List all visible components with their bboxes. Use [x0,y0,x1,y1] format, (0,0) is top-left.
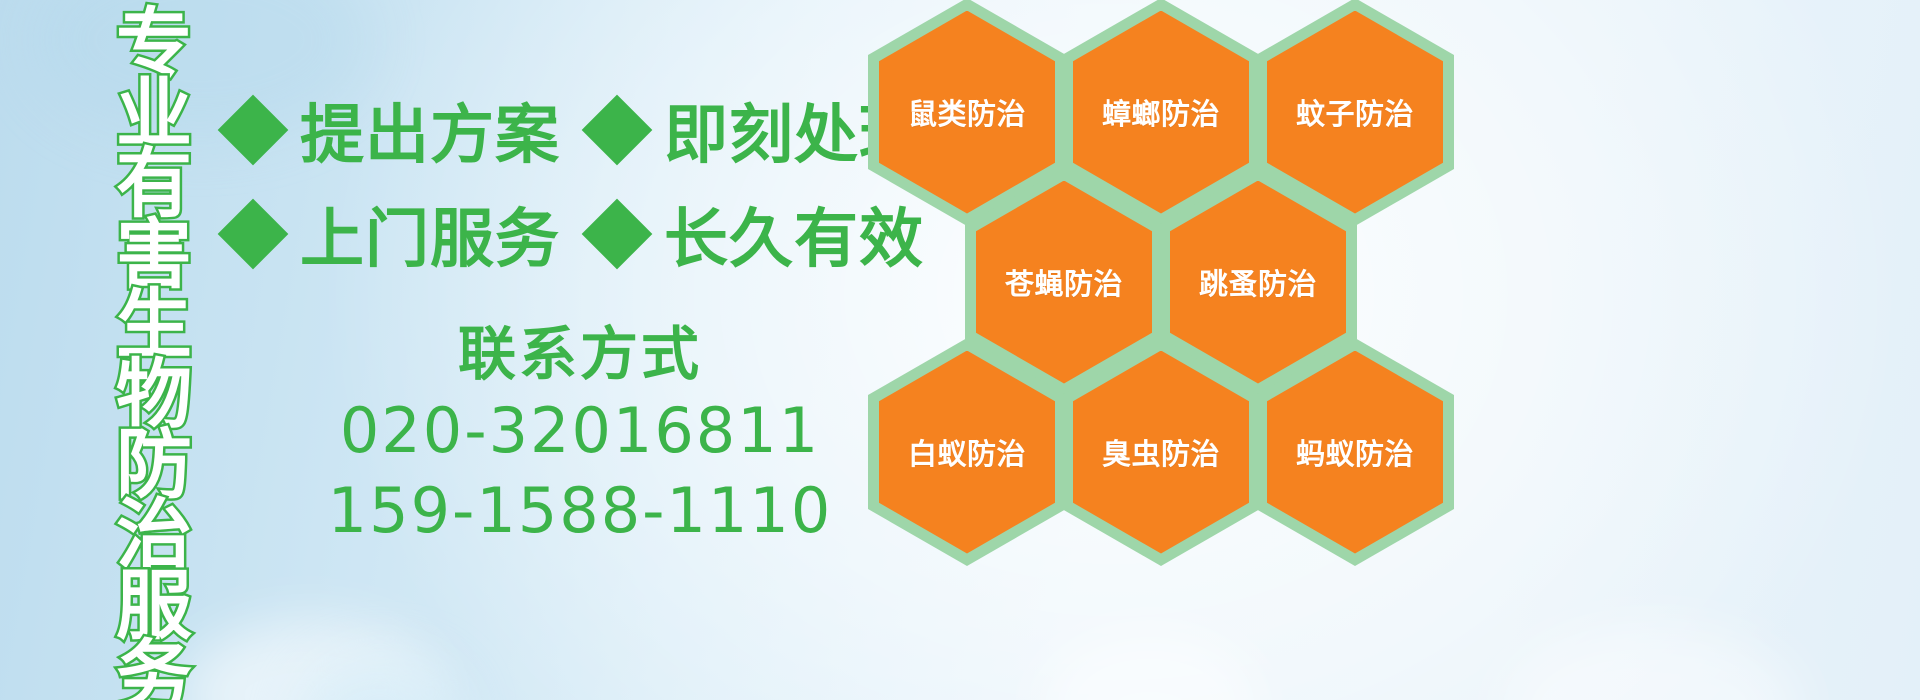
phone-number-mobile[interactable]: 159-1588-1110 [300,471,860,552]
feature-row: 提出方案 即刻处理 [228,78,868,182]
feature-row: 上门服务 长久有效 [228,182,868,286]
hex-inner: 蚂蚁防治 [1267,351,1443,554]
hex-inner: 蚊子防治 [1267,11,1443,214]
background-blob [300,660,460,700]
background-blob [180,620,440,700]
phone-number-landline[interactable]: 020-32016811 [300,391,860,472]
hex-label: 苍蝇防治 [1005,261,1123,303]
vertical-headline-char: 务 [116,640,192,700]
hex-label: 蟑螂防治 [1102,91,1220,133]
vertical-headline: 专 业 有 害 生 物 防 治 服 务 [108,8,200,700]
hex-inner: 蟑螂防治 [1073,11,1249,214]
hex-inner: 鼠类防治 [879,11,1055,214]
service-honeycomb: 鼠类防治 蟑螂防治 蚊子防治 苍蝇防治 跳蚤防治 白蚁防治 [862,0,1462,700]
diamond-icon [218,95,289,166]
promo-banner: 专 业 有 害 生 物 防 治 服 务 提出方案 即刻处理 上门服务 长久有效 … [0,0,1920,700]
hex-label: 跳蚤防治 [1199,261,1317,303]
background-blob [1500,625,1800,700]
hex-label: 白蚁防治 [908,431,1026,473]
hex-inner: 臭虫防治 [1073,351,1249,554]
contact-title: 联系方式 [300,318,860,391]
diamond-icon [582,199,653,270]
hex-inner: 白蚁防治 [879,351,1055,554]
feature-label: 上门服务 [300,188,560,280]
hex-inner: 苍蝇防治 [976,181,1152,384]
diamond-icon [218,199,289,270]
contact-block: 联系方式 020-32016811 159-1588-1110 [300,318,860,552]
hex-label: 蚊子防治 [1296,91,1414,133]
hex-label: 臭虫防治 [1102,431,1220,473]
feature-list: 提出方案 即刻处理 上门服务 长久有效 [228,78,868,286]
hex-label: 鼠类防治 [908,91,1026,133]
hex-label: 蚂蚁防治 [1296,431,1414,473]
diamond-icon [582,95,653,166]
feature-label: 提出方案 [300,84,560,176]
hex-inner: 跳蚤防治 [1170,181,1346,384]
